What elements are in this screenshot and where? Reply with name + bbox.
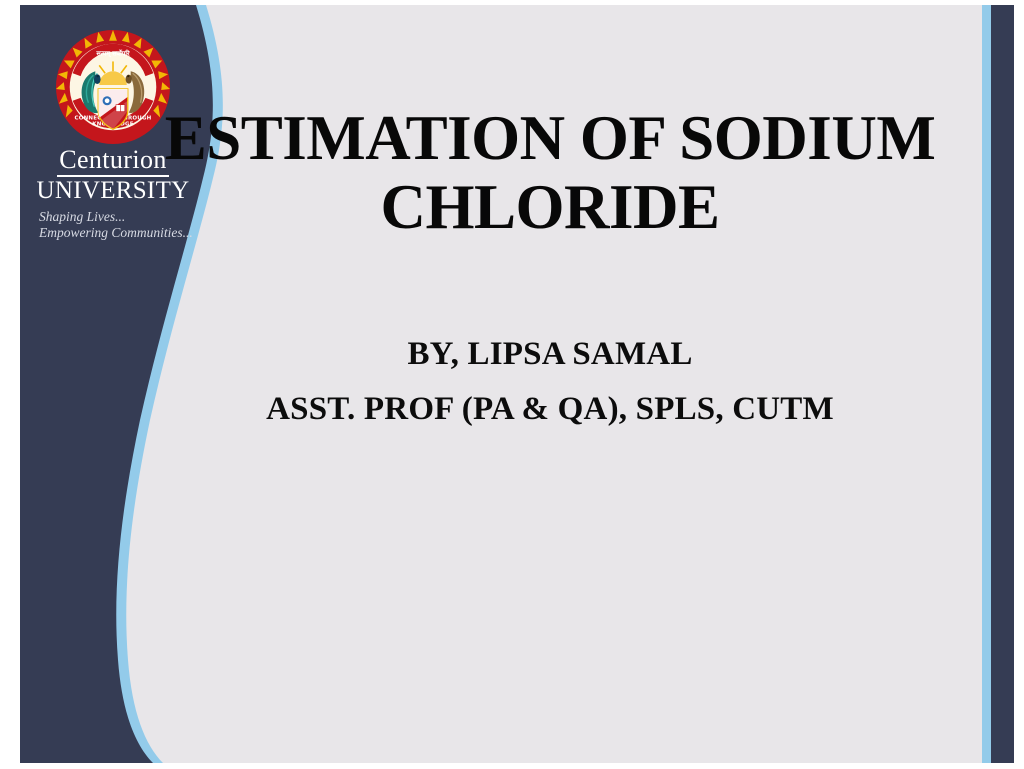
centurion-university-emblem-icon: सत्यम् सर्वोपरि CONNECTING THROUGH KNOWL…	[54, 28, 172, 146]
logo-tagline-line2: Empowering Communities...	[39, 225, 193, 241]
slide-title: ESTIMATION OF SODIUM CHLORIDE	[150, 104, 950, 241]
slide-subtitle: BY, LIPSA SAMAL ASST. PROF (PA & QA), SP…	[150, 327, 950, 438]
university-logo: सत्यम् सर्वोपरि CONNECTING THROUGH KNOWL…	[33, 28, 193, 241]
logo-centurion-text: Centurion	[57, 147, 169, 177]
slide-subtitle-affiliation: ASST. PROF (PA & QA), SPLS, CUTM	[150, 382, 950, 437]
slide-title-line2: CHLORIDE	[150, 173, 950, 242]
right-navy-band	[991, 5, 1014, 763]
slide-subtitle-author: BY, LIPSA SAMAL	[150, 327, 950, 382]
slide-title-line1: ESTIMATION OF SODIUM	[150, 104, 950, 173]
right-blue-accent-stripe	[982, 5, 991, 763]
logo-university-text: UNIVERSITY	[33, 178, 193, 204]
logo-name-centurion: Centurion	[33, 146, 193, 177]
logo-tagline-line1: Shaping Lives...	[39, 209, 193, 225]
logo-tagline: Shaping Lives... Empowering Communities.…	[33, 209, 193, 241]
presentation-slide: सत्यम् सर्वोपरि CONNECTING THROUGH KNOWL…	[0, 0, 1024, 769]
svg-text:सत्यम् सर्वोपरि: सत्यम् सर्वोपरि	[95, 50, 130, 58]
